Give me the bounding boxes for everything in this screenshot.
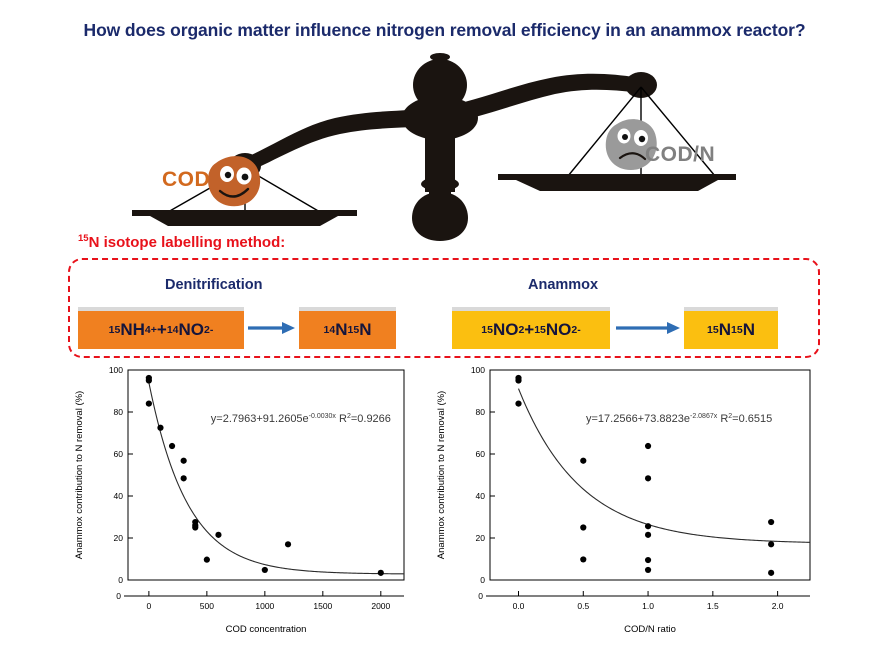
- svg-text:0: 0: [478, 591, 483, 601]
- svg-text:0: 0: [118, 575, 123, 585]
- cod-label: COD: [162, 168, 210, 192]
- anammox-reactant-box: 15NO2+15NO2-: [452, 307, 610, 349]
- svg-text:1.5: 1.5: [707, 601, 719, 611]
- anammox-arrow-icon: [616, 320, 680, 336]
- svg-text:100: 100: [109, 365, 123, 375]
- pathway-title-denitrification: Denitrification: [165, 277, 262, 293]
- svg-text:0: 0: [116, 591, 121, 601]
- svg-text:y=2.7963+91.2605e-0.0030x R2: y=2.7963+91.2605e-0.0030x R2=0.9266: [211, 413, 391, 425]
- svg-text:COD concentration: COD concentration: [226, 624, 307, 635]
- svg-text:80: 80: [476, 407, 486, 417]
- svg-text:0: 0: [147, 601, 152, 611]
- svg-text:20: 20: [114, 533, 124, 543]
- isotope-heading-text: N isotope labelling method:: [89, 234, 286, 251]
- svg-text:20: 20: [476, 533, 486, 543]
- isotope-method-heading: 15N isotope labelling method:: [78, 233, 285, 251]
- cod-concentration-chart: 02040608010005001000150020000COD concent…: [66, 362, 414, 640]
- svg-text:60: 60: [476, 449, 486, 459]
- anammox-product-box: 15N15N: [684, 307, 778, 349]
- svg-text:60: 60: [114, 449, 124, 459]
- denitrification-reactant-box: 15NH4++14NO2-: [78, 307, 244, 349]
- svg-text:COD/N ratio: COD/N ratio: [624, 624, 676, 635]
- svg-text:40: 40: [476, 491, 486, 501]
- svg-text:500: 500: [200, 601, 214, 611]
- cod-n-label: COD/N: [645, 143, 715, 167]
- svg-text:Anammox contribution to N remo: Anammox contribution to N removal (%): [74, 391, 85, 559]
- svg-text:0.0: 0.0: [513, 601, 525, 611]
- svg-text:40: 40: [114, 491, 124, 501]
- graphical-abstract-page: How does organic matter influence nitrog…: [0, 0, 889, 646]
- denitrification-product-box: 14N15N: [299, 307, 396, 349]
- svg-text:1500: 1500: [313, 601, 332, 611]
- svg-text:100: 100: [471, 365, 485, 375]
- svg-text:1.0: 1.0: [642, 601, 654, 611]
- page-title: How does organic matter influence nitrog…: [0, 20, 889, 41]
- svg-text:0: 0: [480, 575, 485, 585]
- balance-right-pan: [498, 87, 736, 191]
- svg-text:80: 80: [114, 407, 124, 417]
- svg-text:0.5: 0.5: [577, 601, 589, 611]
- cod-n-ratio-chart: 0204060801000.00.51.01.52.00COD/N ratioA…: [428, 362, 820, 640]
- isotope-heading-superscript: 15: [78, 233, 89, 244]
- svg-text:1000: 1000: [255, 601, 274, 611]
- svg-text:Anammox contribution to N remo: Anammox contribution to N removal (%): [436, 391, 447, 559]
- svg-text:2.0: 2.0: [772, 601, 784, 611]
- denitrification-arrow-icon: [248, 320, 295, 336]
- pathway-title-anammox: Anammox: [528, 277, 598, 293]
- svg-text:y=17.2566+73.8823e-2.0867x R: y=17.2566+73.8823e-2.0867x R2=0.6515: [586, 413, 772, 425]
- svg-text:2000: 2000: [371, 601, 390, 611]
- happy-face-icon: [208, 156, 260, 206]
